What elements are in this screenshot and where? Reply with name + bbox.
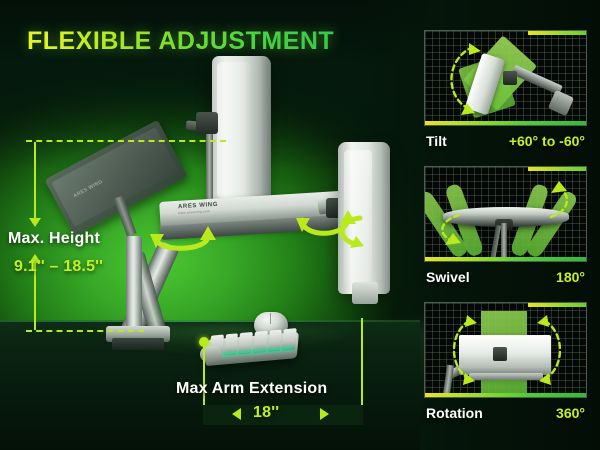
panel-accent-bar-top <box>528 167 586 171</box>
swivel-stem <box>501 223 507 261</box>
rotation-hinge <box>493 347 507 361</box>
rotation-arrow-right-icon <box>537 315 571 387</box>
tilt-value: +60° to -60° <box>509 133 585 149</box>
feature-panel-tilt[interactable]: Tilt +60° to -60° <box>424 30 587 149</box>
rotation-illustration <box>424 302 587 398</box>
arm-desk-clamp <box>112 338 164 350</box>
tilt-curved-arrow-icon <box>439 41 481 117</box>
swivel-value: 180° <box>556 269 585 285</box>
arm-vertical-pole <box>126 236 142 332</box>
tilt-caption-row: Tilt +60° to -60° <box>424 126 587 149</box>
swivel-arrow-left-icon <box>433 211 467 247</box>
swivel-caption-row: Swivel 180° <box>424 262 587 285</box>
panel-accent-bar-bottom <box>425 257 587 261</box>
panel-accent-bar-bottom <box>425 393 587 397</box>
swivel-arrow-right-icon <box>543 181 579 221</box>
infographic-canvas: FLEXIBLE ADJUSTMENT ARES WING ARES WING … <box>0 0 600 450</box>
monitor-center-edge <box>262 58 271 202</box>
feature-panel-rotation[interactable]: Rotation 360° <box>424 302 587 421</box>
swivel-illustration <box>424 166 587 262</box>
rotation-monitor-foot <box>469 373 543 380</box>
rotation-value: 360° <box>556 405 585 421</box>
tilt-hinge <box>503 71 517 85</box>
rotation-caption-row: Rotation 360° <box>424 398 587 421</box>
rotation-arrow-left-icon <box>443 315 477 387</box>
swivel-arrow-pole-icon <box>150 222 216 262</box>
rotation-arrow-monitor-icon <box>330 214 366 248</box>
panel-accent-bar-top <box>528 303 586 307</box>
monitor-center-hinge <box>196 112 218 134</box>
swivel-name: Swivel <box>426 269 470 285</box>
rotation-name: Rotation <box>426 405 483 421</box>
monitor-right-foot <box>352 282 378 304</box>
tilt-illustration <box>424 30 587 126</box>
feature-panel-swivel[interactable]: Swivel 180° <box>424 166 587 285</box>
monitor-center-stem <box>206 128 213 200</box>
mouse-button-split <box>270 313 271 324</box>
tilt-name: Tilt <box>426 133 447 149</box>
panel-accent-bar-top <box>528 31 586 35</box>
monitor-center-screen <box>217 62 251 198</box>
panel-accent-bar-bottom <box>425 121 587 125</box>
